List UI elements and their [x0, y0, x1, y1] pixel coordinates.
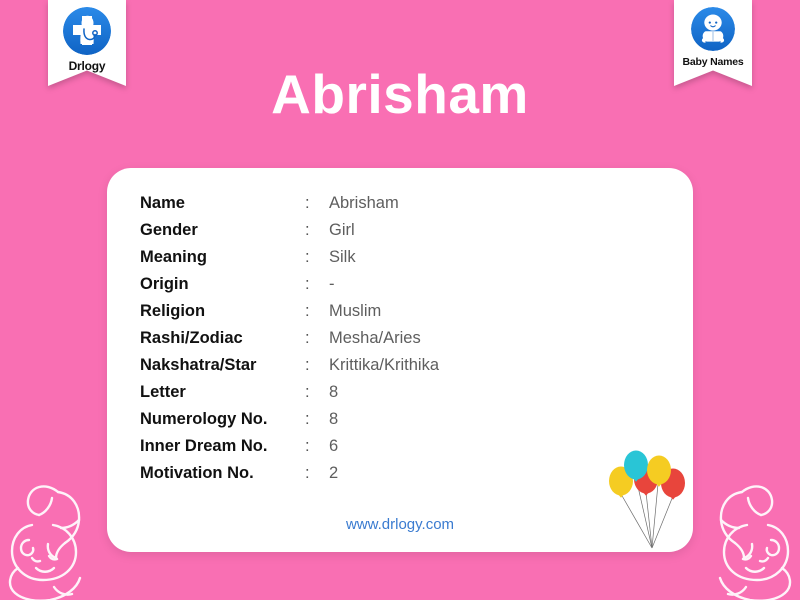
table-row: Religion : Muslim — [140, 298, 439, 325]
row-separator: : — [305, 352, 327, 379]
row-label: Nakshatra/Star — [140, 352, 305, 379]
balloons-cluster-icon — [605, 448, 693, 552]
row-value: Mesha/Aries — [327, 325, 439, 352]
row-separator: : — [305, 325, 327, 352]
row-separator: : — [305, 190, 327, 217]
table-body: Name : Abrisham Gender : Girl Meaning : … — [140, 190, 439, 487]
website-link[interactable]: www.drlogy.com — [107, 516, 693, 533]
row-value: 8 — [327, 379, 439, 406]
row-separator: : — [305, 298, 327, 325]
row-label: Rashi/Zodiac — [140, 325, 305, 352]
row-value: Abrisham — [327, 190, 439, 217]
name-details-table: Name : Abrisham Gender : Girl Meaning : … — [140, 190, 439, 487]
baby-sitting-icon — [691, 7, 735, 51]
table-row: Meaning : Silk — [140, 244, 439, 271]
row-separator: : — [305, 406, 327, 433]
row-separator: : — [305, 433, 327, 460]
table-row: Letter : 8 — [140, 379, 439, 406]
table-row: Inner Dream No. : 6 — [140, 433, 439, 460]
mother-holding-baby-outline-icon — [694, 460, 800, 600]
row-separator: : — [305, 217, 327, 244]
table-row: Name : Abrisham — [140, 190, 439, 217]
row-label: Letter — [140, 379, 305, 406]
row-separator: : — [305, 271, 327, 298]
row-separator: : — [305, 460, 327, 487]
table-row: Nakshatra/Star : Krittika/Krithika — [140, 352, 439, 379]
row-value: Muslim — [327, 298, 439, 325]
row-label: Religion — [140, 298, 305, 325]
drlogy-medical-cross-doctor-icon — [63, 7, 111, 55]
table-row: Numerology No. : 8 — [140, 406, 439, 433]
mother-holding-baby-outline-icon — [0, 460, 106, 600]
row-label: Inner Dream No. — [140, 433, 305, 460]
row-value: - — [327, 271, 439, 298]
row-value: Krittika/Krithika — [327, 352, 439, 379]
row-value: Silk — [327, 244, 439, 271]
table-row: Rashi/Zodiac : Mesha/Aries — [140, 325, 439, 352]
row-separator: : — [305, 379, 327, 406]
row-label: Motivation No. — [140, 460, 305, 487]
row-value: Girl — [327, 217, 439, 244]
page-title: Abrisham — [0, 66, 800, 124]
row-label: Name — [140, 190, 305, 217]
name-details-card: Name : Abrisham Gender : Girl Meaning : … — [107, 168, 693, 552]
table-row: Motivation No. : 2 — [140, 460, 439, 487]
row-label: Origin — [140, 271, 305, 298]
row-value: 6 — [327, 433, 439, 460]
row-value: 2 — [327, 460, 439, 487]
row-value: 8 — [327, 406, 439, 433]
row-label: Gender — [140, 217, 305, 244]
table-row: Gender : Girl — [140, 217, 439, 244]
row-label: Numerology No. — [140, 406, 305, 433]
row-label: Meaning — [140, 244, 305, 271]
table-row: Origin : - — [140, 271, 439, 298]
row-separator: : — [305, 244, 327, 271]
